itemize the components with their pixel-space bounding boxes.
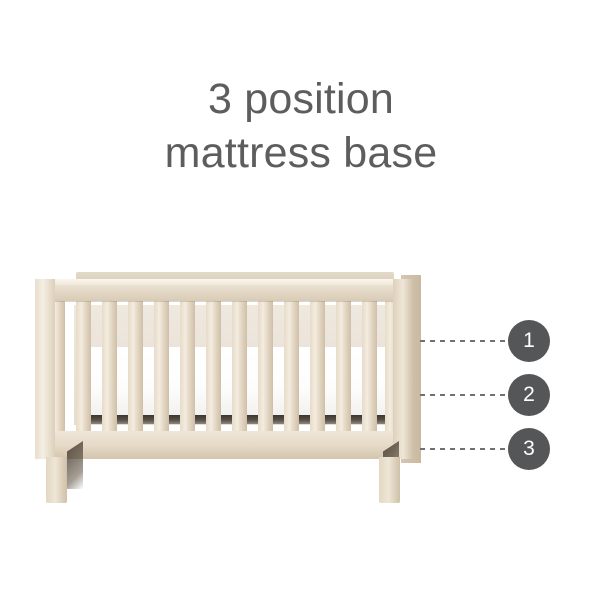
position-badge-2: 2 — [508, 374, 550, 416]
crib-front-slats — [50, 301, 400, 433]
front-slat — [310, 301, 325, 433]
front-slat — [102, 301, 117, 433]
callout-dashed-line — [420, 448, 506, 450]
title-line-2: mattress base — [0, 126, 602, 180]
crib-illustration — [30, 265, 420, 510]
page-title: 3 position mattress base — [0, 72, 602, 180]
callout-dashed-line — [420, 340, 506, 342]
crib-leg-right — [379, 457, 400, 503]
title-line-1: 3 position — [0, 72, 602, 126]
front-slat — [362, 301, 377, 433]
front-slat — [128, 301, 143, 433]
front-slat — [206, 301, 221, 433]
front-slat — [180, 301, 195, 433]
front-slat — [336, 301, 351, 433]
front-slat — [284, 301, 299, 433]
crib-corner-post-left — [35, 279, 55, 459]
front-slat — [154, 301, 169, 433]
crib-bottom-rail — [35, 431, 413, 459]
crib-leg-left — [46, 457, 67, 503]
crib-corner-post-right — [393, 279, 413, 459]
position-badge-3: 3 — [508, 428, 550, 470]
product-feature-graphic: 3 position mattress base — [0, 0, 602, 602]
front-slat — [76, 301, 91, 433]
front-slat — [232, 301, 247, 433]
front-slat — [258, 301, 273, 433]
crib-top-rail-highlight — [35, 279, 413, 285]
position-badge-1: 1 — [508, 320, 550, 362]
callout-dashed-line — [420, 394, 506, 396]
